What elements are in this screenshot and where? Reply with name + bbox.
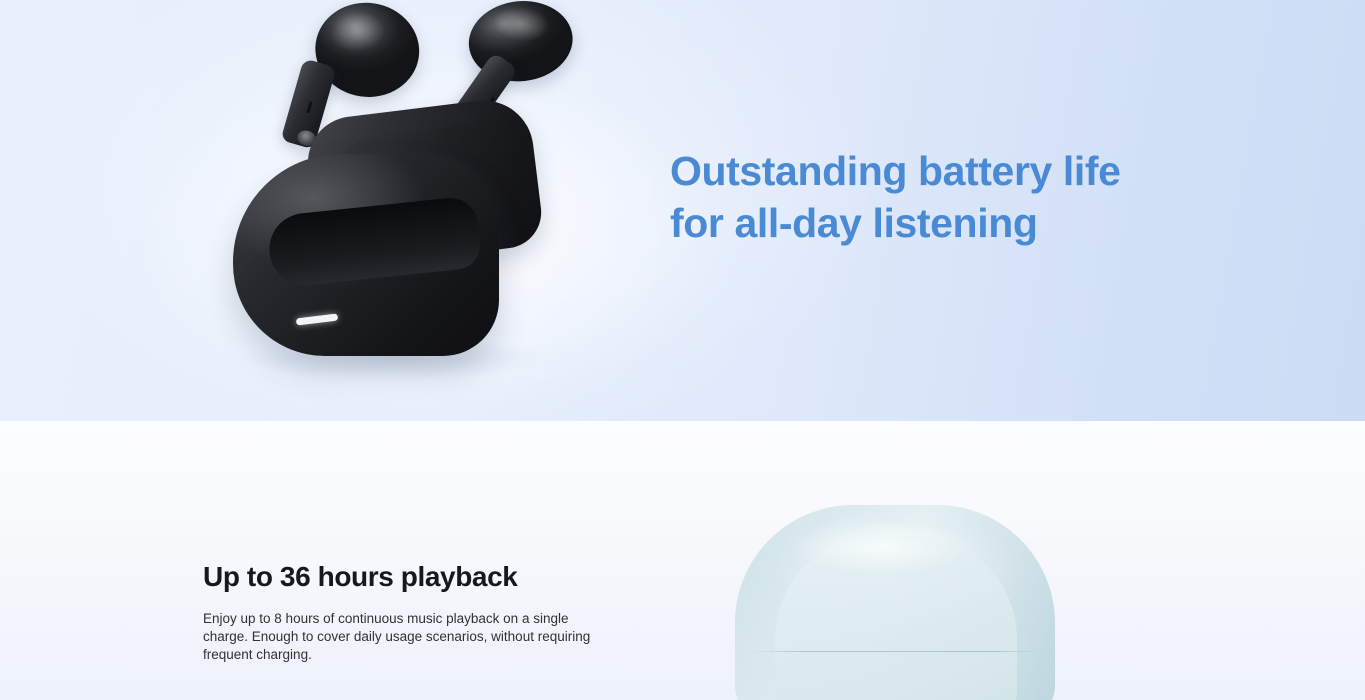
charging-case-led-indicator <box>296 313 339 325</box>
mint-charging-case-image <box>735 505 1055 700</box>
playback-feature-section: Up to 36 hours playback Enjoy up to 8 ho… <box>0 421 1365 700</box>
feature-title: Up to 36 hours playback <box>203 560 623 594</box>
charging-case-body <box>233 154 499 356</box>
feature-text-block: Up to 36 hours playback Enjoy up to 8 ho… <box>203 560 623 664</box>
mint-case-seam-line <box>749 651 1041 652</box>
charging-case-open <box>233 108 545 356</box>
hero-headline-line-1: Outstanding battery life <box>670 148 1121 194</box>
hero-headline: Outstanding battery life for all-day lis… <box>670 145 1210 249</box>
hero-headline-line-2: for all-day listening <box>670 197 1210 249</box>
product-landing-page: Outstanding battery life for all-day lis… <box>0 0 1365 700</box>
charging-case-cavity <box>266 195 482 289</box>
hero-section: Outstanding battery life for all-day lis… <box>0 0 1365 421</box>
mint-case-highlight <box>793 519 973 575</box>
feature-description: Enjoy up to 8 hours of continuous music … <box>203 610 603 664</box>
earbuds-product-image <box>0 0 660 421</box>
